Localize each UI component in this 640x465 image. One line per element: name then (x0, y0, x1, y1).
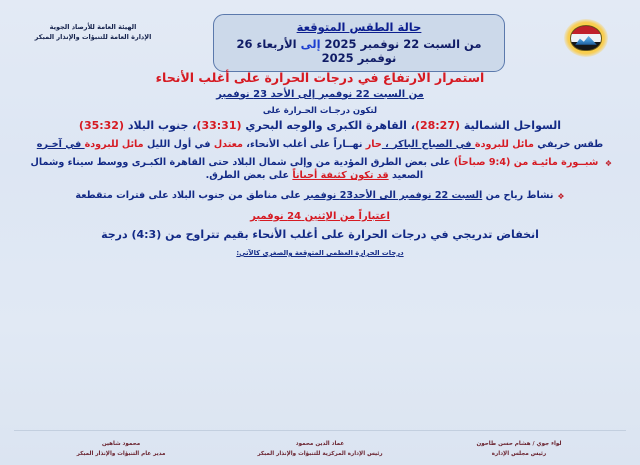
fog-label: شبــورة مائيـة من (510, 157, 598, 168)
temp-value-north-coast: (28:27) (415, 119, 460, 132)
signature-block-1: لواء جوي / هشام حسن طاحون رئيس مجلس الإد… (424, 440, 614, 459)
title-box: حالة الطقس المتوقعة من السبت 22 نوفمبر 2… (213, 14, 505, 72)
temp-value-south: (35:32) (79, 119, 124, 132)
page-title: حالة الطقس المتوقعة (220, 20, 498, 34)
signature-1-name: لواء جوي / هشام حسن طاحون (424, 440, 614, 450)
headline-primary: استمرار الارتفاع في درجات الحرارة على أغ… (10, 70, 630, 86)
bullet-diamond-icon: ❖ (557, 190, 564, 203)
temperature-lead: لتكون درجـات الحـرارة على (10, 106, 630, 117)
signature-2-title: رئيس الإدارة المركزية للتنبؤات والإنذار … (225, 450, 415, 460)
wind-date-range: السبت 22 نوفمبر الى الأحد23 نوفمبر (304, 190, 482, 201)
desc-part-3: في الصباح الباكر ، (382, 139, 475, 150)
document-header: حالة الطقس المتوقعة من السبت 22 نوفمبر 2… (0, 0, 640, 68)
temp-label-cairo-delta: ، القاهرة الكبرى والوجه البحري (242, 119, 415, 132)
fog-time-range: (9:4 صباحاً) (454, 157, 511, 168)
fog-warning-text: شبــورة مائيـة من (9:4 صباحاً) على بعض ا… (28, 157, 601, 182)
desc-hot-daytime: حار (366, 139, 382, 150)
temperature-decline-note: انخفاض تدريجي في درجات الحرارة على أغلب … (10, 228, 630, 242)
desc-part-1: طقس خريفي (534, 139, 603, 150)
temperature-summary: السواحل الشمالية (28:27)، القاهرة الكبرى… (10, 119, 630, 133)
signature-2-name: عماد الدين محمود (225, 440, 415, 450)
fog-warning-row: ❖ شبــورة مائيـة من (9:4 صباحاً) على بعض… (10, 157, 630, 182)
org-line-2: الإدارة العامة للتنبؤات والإنذار المبكر (8, 32, 178, 42)
wind-warning-text: نشاط رياح من السبت 22 نوفمبر الى الأحد23… (75, 190, 553, 203)
desc-mild-evening: معتدل (214, 139, 243, 150)
document-body: استمرار الارتفاع في درجات الحرارة على أغ… (0, 70, 640, 257)
fog-density-note: قد تكون كثيفة أحياناً (292, 170, 388, 181)
headline-date-range: من السبت 22 نوفمبر إلى الأحد 23 نوفمبر (10, 89, 630, 102)
temp-label-south: ، جنوب البلاد (124, 119, 196, 132)
desc-part-7: في أول الليل (144, 139, 214, 150)
temp-value-cairo-delta: (33:31) (196, 119, 241, 132)
desc-part-5: نهــاراً على أغلب الأنحاء، (243, 139, 366, 150)
wind-label: نشاط رياح من (482, 190, 553, 201)
fog-roads-note: على بعض الطرق. (206, 170, 293, 181)
flag-band-red (571, 26, 601, 34)
desc-cool-late-night: مائل للبرودة (85, 139, 144, 150)
document-footer: لواء جوي / هشام حسن طاحون رئيس مجلس الإد… (0, 440, 640, 459)
wind-areas: على مناطق من جنوب البلاد على فترات متقطع… (75, 190, 304, 201)
footer-divider (14, 430, 626, 431)
ema-logo-icon (563, 18, 609, 58)
title-date-range: من السبت 22 نوفمبر 2025 إلى الأربعاء 26 … (220, 37, 498, 65)
signature-block-2: عماد الدين محمود رئيس الإدارة المركزية ل… (225, 440, 415, 459)
signature-3-name: محمود شاهين (26, 440, 216, 450)
organization-block: الهيئة العامة للأرصاد الجوية الإدارة الع… (8, 22, 178, 42)
signature-1-title: رئيس مجلس الإدارة (424, 450, 614, 460)
logo-container (540, 18, 632, 58)
temp-label-north-coast: السواحل الشمالية (460, 119, 561, 132)
effective-from-note: اعتباراً من الإثنين 24 نوفمبر (10, 211, 630, 224)
signature-block-3: محمود شاهين مدير عام التنبؤات والإنذار ا… (26, 440, 216, 459)
desc-cool-morning: مائل للبرودة (475, 139, 534, 150)
table-caption: درجات الحرارة العظمى المتوقعة والصغرى كا… (10, 249, 630, 257)
signature-3-title: مدير عام التنبؤات والإنذار المبكر (26, 450, 216, 460)
shield-icon (570, 25, 602, 51)
org-line-1: الهيئة العامة للأرصاد الجوية (8, 22, 178, 32)
title-date-connector: إلى (301, 37, 321, 51)
title-date-from: من السبت 22 نوفمبر 2025 (321, 37, 482, 51)
forecast-document: حالة الطقس المتوقعة من السبت 22 نوفمبر 2… (0, 0, 640, 465)
bullet-diamond-icon: ❖ (605, 157, 612, 170)
weather-description: طقس خريفي مائل للبرودة في الصباح الباكر … (10, 139, 630, 151)
wind-warning-row: ❖ نشاط رياح من السبت 22 نوفمبر الى الأحد… (10, 190, 630, 203)
desc-part-9: في آخـره (37, 139, 85, 150)
